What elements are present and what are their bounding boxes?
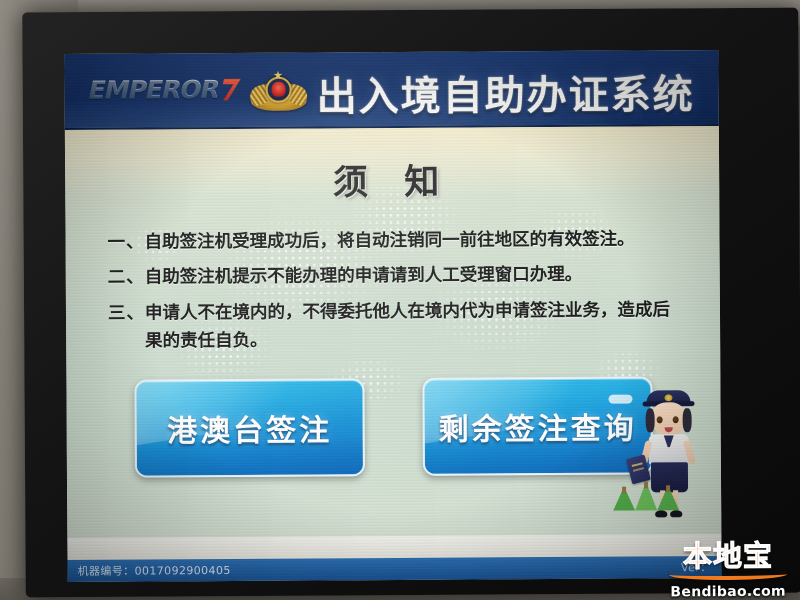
watermark-english-text: Bendibao.com <box>670 584 786 600</box>
cloud-decoration <box>608 395 632 404</box>
notice-item-text: 自助签注机受理成功后，将自动注销同一前往地区的有效签注。 <box>144 225 679 257</box>
tree-icon <box>635 481 657 510</box>
notice-item: 一、 自助签注机受理成功后，将自动注销同一前往地区的有效签注。 <box>107 225 679 257</box>
machine-number: 机器编号：0017092900405 <box>78 562 231 579</box>
emperor-logo-mark-icon <box>219 78 241 100</box>
police-badge-icon <box>250 69 306 119</box>
tree-decoration-group <box>613 480 675 516</box>
app-header: EMPEROR 出入境自助办证系统 <box>64 50 718 130</box>
tree-icon <box>613 487 635 511</box>
notice-item-number: 一、 <box>107 229 144 258</box>
notice-item: 二、 自助签注机提示不能办理的申请请到人工受理窗口办理。 <box>108 261 680 293</box>
notice-list: 一、 自助签注机受理成功后，将自动注销同一前往地区的有效签注。 二、 自助签注机… <box>107 225 680 356</box>
notice-heading: 须 知 <box>65 152 719 207</box>
mascot-hat-emblem-icon <box>664 394 672 401</box>
button-label: 港澳台签注 <box>167 405 332 450</box>
mascot-eye-left <box>657 416 663 423</box>
photograph-of-kiosk-monitor: EMPEROR 出入境自助办证系统 须 知 一、 自助签注机受理成功后，将自动注… <box>0 0 800 600</box>
emperor-logo-text: EMPEROR <box>86 75 222 105</box>
watermark-chinese-text: 本地宝 <box>662 542 794 572</box>
button-label: 剩余签注查询 <box>439 404 637 449</box>
notice-item-number: 三、 <box>108 299 145 356</box>
emperor-logo: EMPEROR <box>86 75 243 105</box>
notice-item-number: 二、 <box>108 264 145 293</box>
notice-item-text: 申请人不在境内的，不得委托他人在境内代为申请签注业务，造成后果的责任自负。 <box>145 296 680 356</box>
app-footer: 机器编号：0017092900405 Ver： <box>67 556 721 582</box>
badge-core <box>266 77 292 103</box>
remaining-endorsement-query-button[interactable]: 剩余签注查询 <box>422 376 653 475</box>
mascot-eye-right <box>673 416 679 423</box>
notice-item: 三、 申请人不在境内的，不得委托他人在境内代为申请签注业务，造成后果的责任自负。 <box>108 296 680 356</box>
bendibao-watermark: 本地宝 Bendibao.com <box>662 542 794 599</box>
tree-icon <box>657 485 679 510</box>
kiosk-screen: EMPEROR 出入境自助办证系统 须 知 一、 自助签注机受理成功后，将自动注… <box>64 50 721 582</box>
notice-item-text: 自助签注机提示不能办理的申请请到人工受理窗口办理。 <box>145 261 680 293</box>
main-content: 须 知 一、 自助签注机受理成功后，将自动注销同一前往地区的有效签注。 二、 自… <box>65 126 721 538</box>
hk-macau-taiwan-endorsement-button[interactable]: 港澳台签注 <box>134 378 365 477</box>
page-title: 出入境自助办证系统 <box>316 62 694 122</box>
